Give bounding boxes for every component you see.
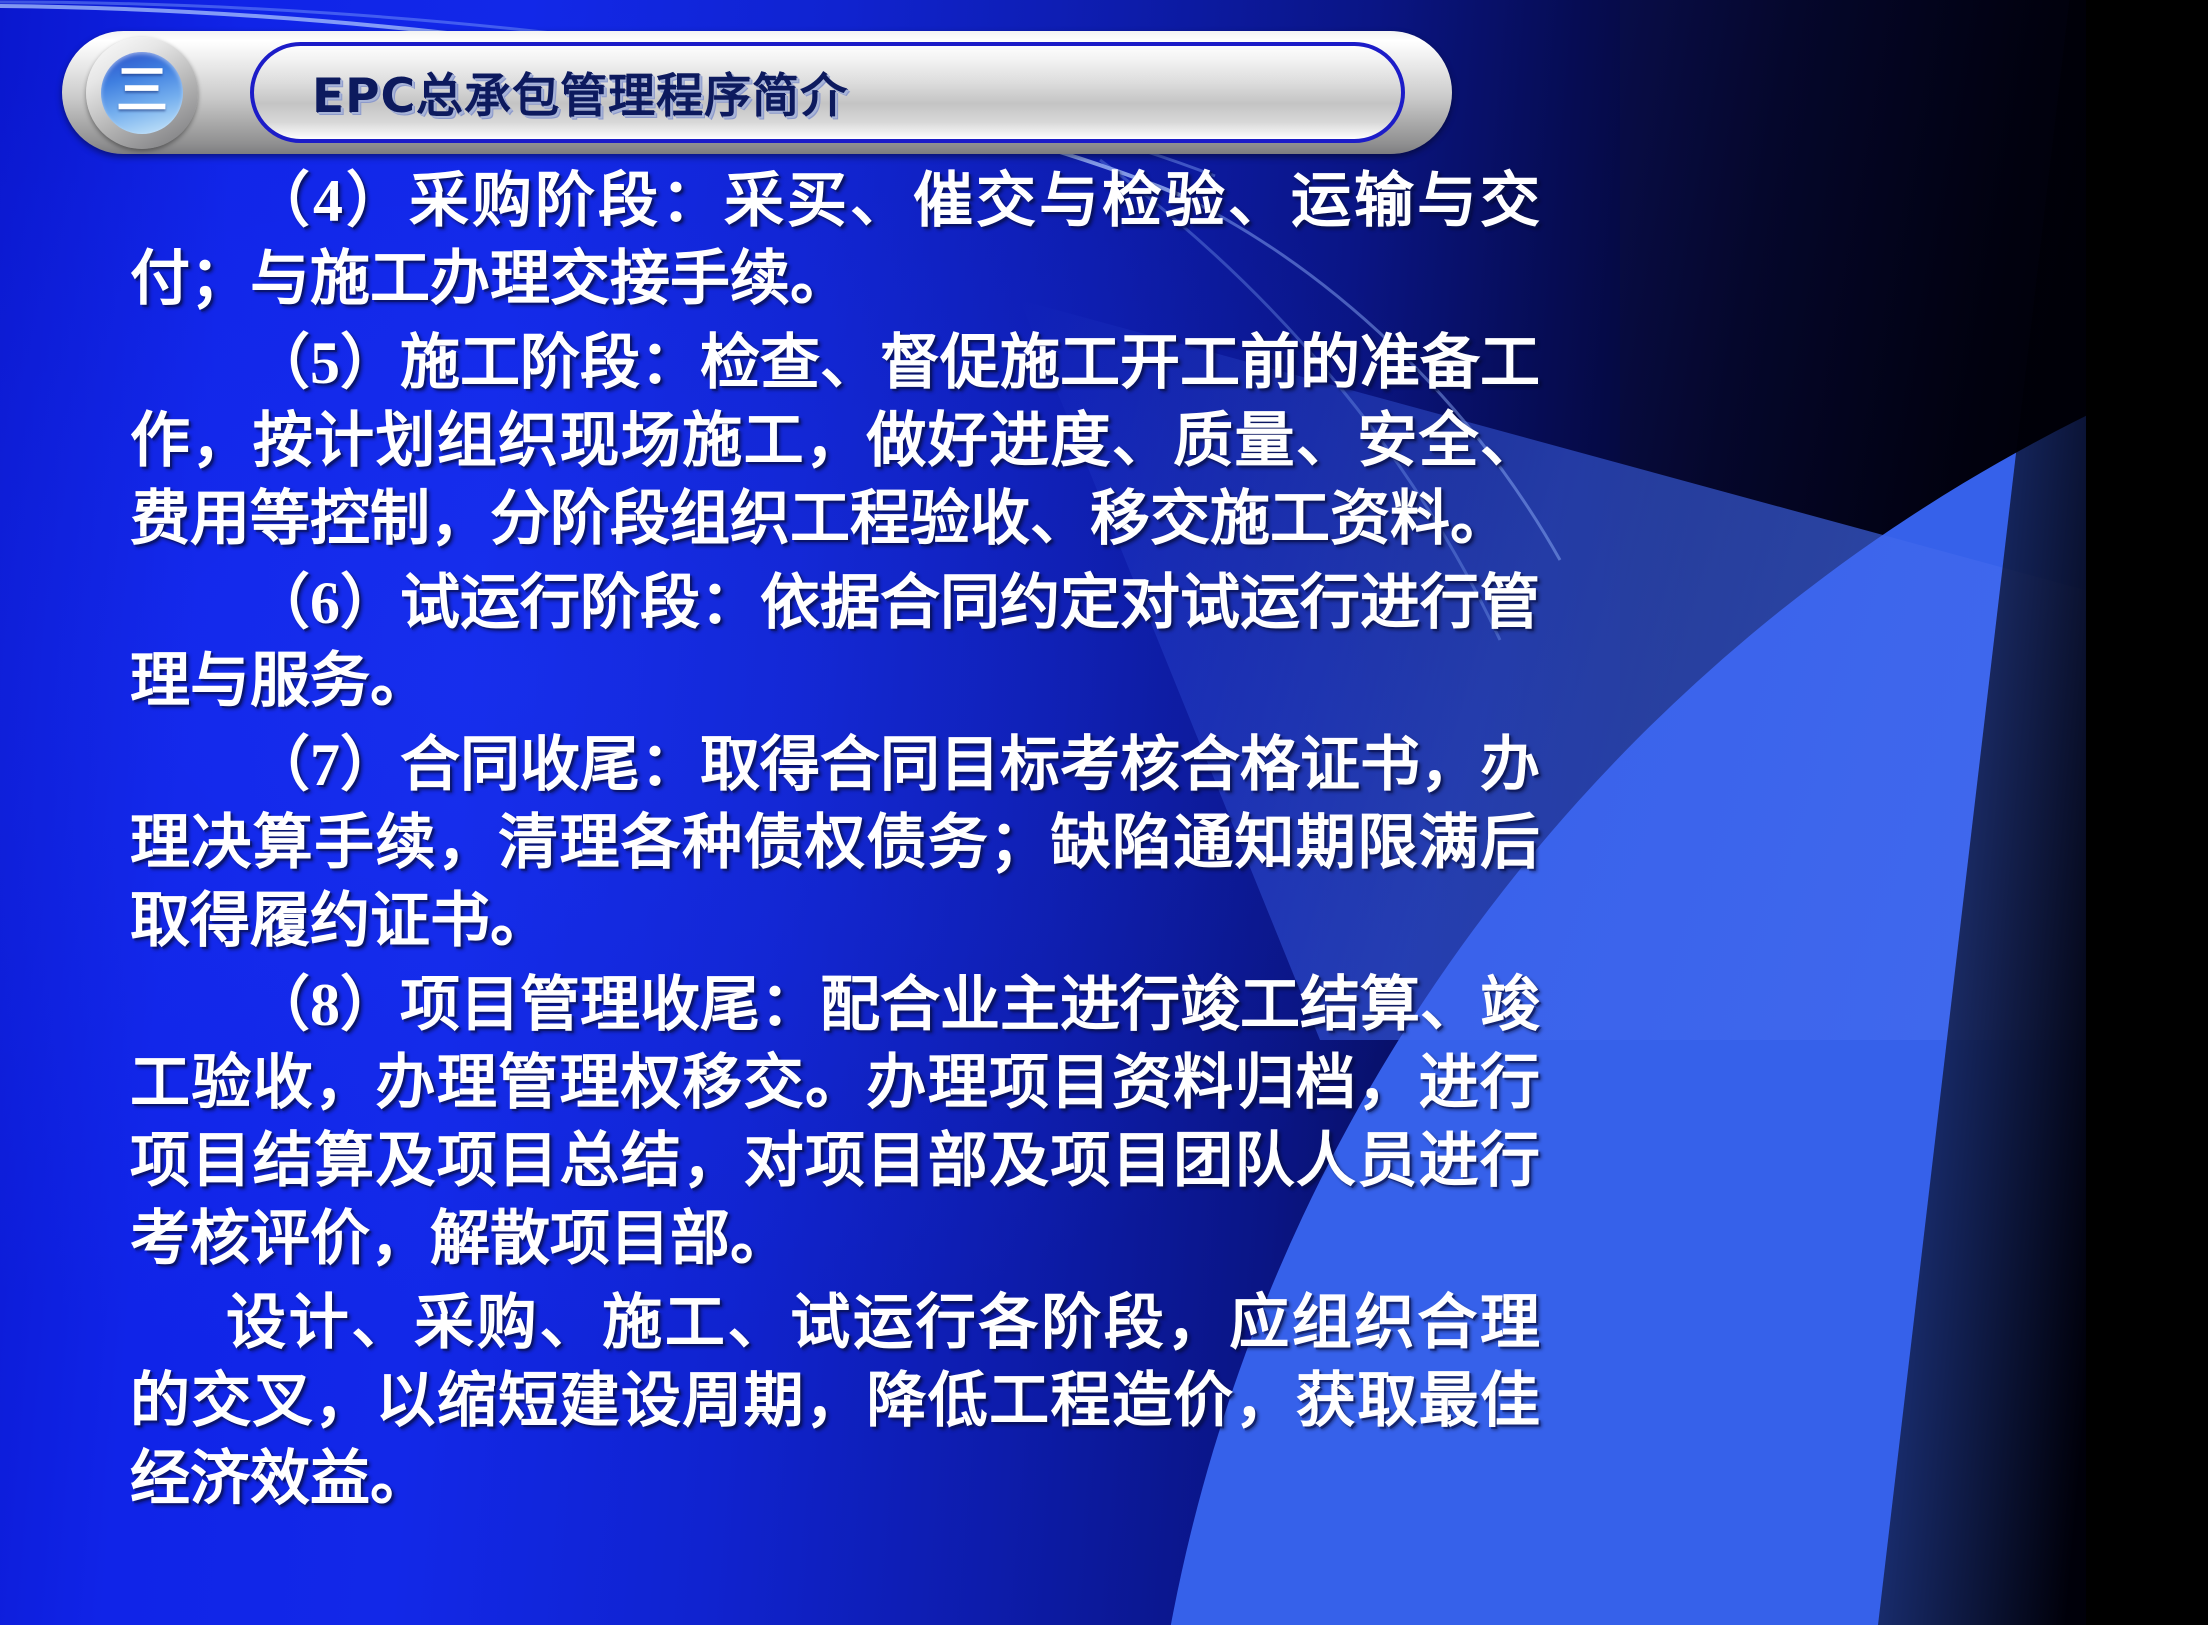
chapter-three-badge-icon: 三 <box>116 65 168 117</box>
body-paragraph: （7）合同收尾：取得合同目标考核合格证书，办理决算手续，清理各种债权债务；缺陷通… <box>130 726 1540 960</box>
slide-body: （4）采购阶段：采买、催交与检验、运输与交付；与施工办理交接手续。 （5）施工阶… <box>130 162 1540 1524</box>
body-paragraph: （6）试运行阶段：依据合同约定对试运行进行管理与服务。 <box>130 564 1540 720</box>
body-paragraph: （8）项目管理收尾：配合业主进行竣工结算、竣工验收，办理管理权移交。办理项目资料… <box>130 966 1540 1278</box>
chapter-badge-ring: 三 <box>86 37 198 149</box>
background-right-band <box>2086 0 2208 1625</box>
header-pill-inner: EPC总承包管理程序简介 <box>250 42 1405 143</box>
body-paragraph: （5）施工阶段：检查、督促施工开工前的准备工作，按计划组织现场施工，做好进度、质… <box>130 324 1540 558</box>
body-paragraph: 设计、采购、施工、试运行各阶段，应组织合理的交叉，以缩短建设周期，降低工程造价，… <box>130 1284 1540 1518</box>
body-paragraph: （4）采购阶段：采买、催交与检验、运输与交付；与施工办理交接手续。 <box>130 162 1540 318</box>
slide-title: EPC总承包管理程序简介 <box>312 57 848 126</box>
slide-header: 三 EPC总承包管理程序简介 <box>62 31 1452 154</box>
presentation-slide: 三 EPC总承包管理程序简介 （4）采购阶段：采买、催交与检验、运输与交付；与施… <box>0 0 2208 1625</box>
chapter-badge-disc: 三 <box>101 52 183 134</box>
